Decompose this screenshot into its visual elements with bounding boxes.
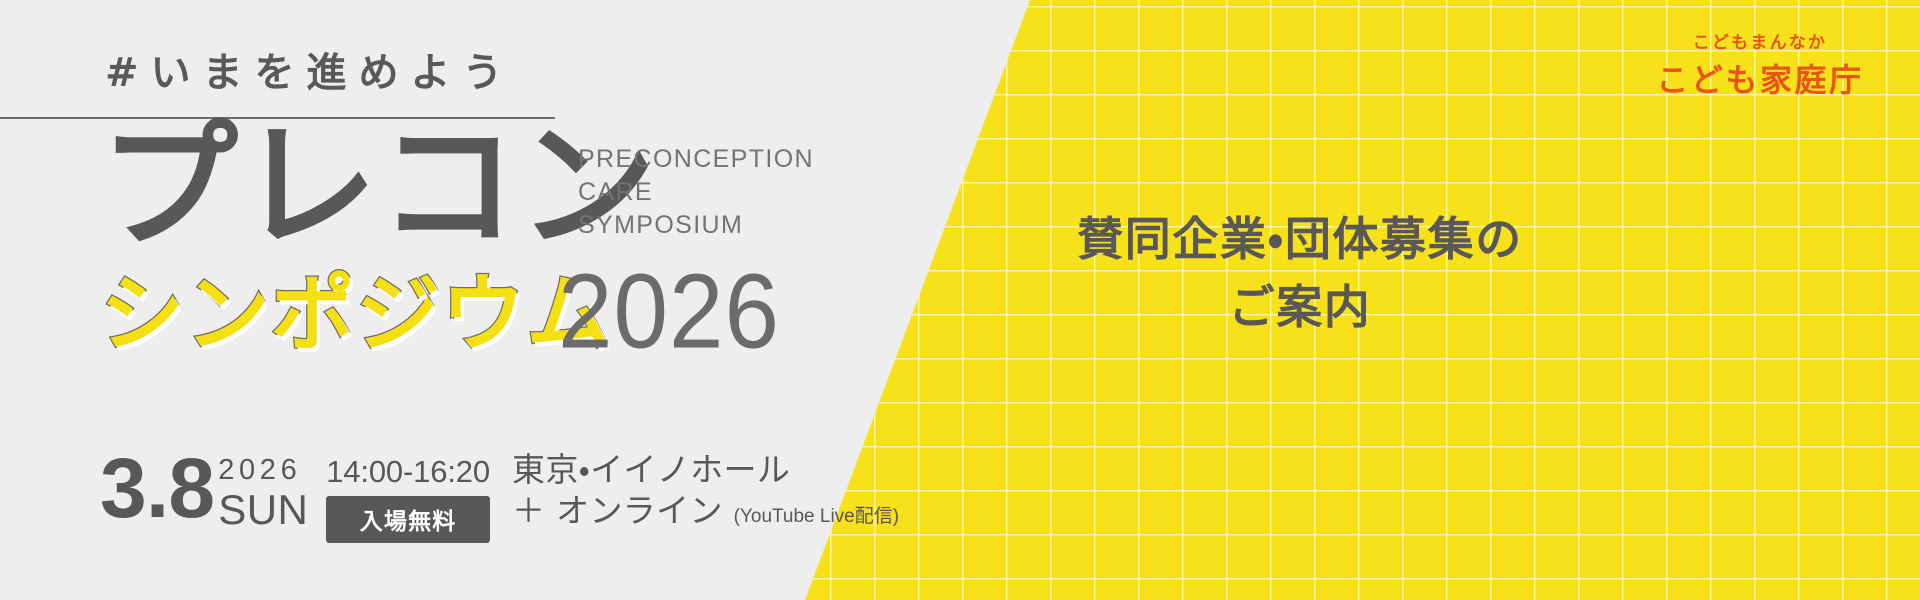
sponsor-recruitment-headline: 賛同企業・団体募集の ご案内: [1000, 205, 1600, 341]
event-title-sub: シンポジウム: [100, 272, 612, 356]
event-title-year: 2026: [558, 258, 780, 364]
title-english-line-2: CARE: [578, 176, 814, 209]
title-english-line-3: SYMPOSIUM: [578, 209, 814, 242]
left-content-column: #いまを進めよう プレコン PRECONCEPTION CARE SYMPOSI…: [0, 0, 1000, 600]
event-streaming-note: (YouTube Live配信): [734, 506, 899, 527]
free-admission-badge: 入場無料: [326, 496, 490, 543]
sponsor-headline-line-2: ご案内: [1000, 273, 1600, 341]
event-date-meta: 2026 SUN: [218, 452, 308, 531]
agency-logo: こどもまんなか こども家庭庁: [1640, 28, 1880, 101]
agency-name: こども家庭庁: [1640, 55, 1880, 101]
event-banner: #いまを進めよう プレコン PRECONCEPTION CARE SYMPOSI…: [0, 0, 1920, 600]
campaign-hashtag: #いまを進めよう: [105, 40, 515, 98]
event-info-row: 3.8 2026 SUN 14:00-16:20 入場無料 東京・イイノホール …: [100, 452, 899, 543]
sponsor-headline-line-1: 賛同企業・団体募集の: [1000, 205, 1600, 273]
event-title-main: プレコン: [100, 118, 658, 256]
event-day-of-week: SUN: [218, 489, 308, 531]
event-venue-online: ＋ オンライン (YouTube Live配信): [512, 493, 899, 530]
event-venue-online-label: ＋ オンライン: [512, 491, 723, 530]
event-title-english: PRECONCEPTION CARE SYMPOSIUM: [578, 143, 814, 242]
event-year: 2026: [218, 456, 308, 485]
event-time: 14:00-16:20: [326, 456, 490, 487]
title-english-line-1: PRECONCEPTION: [578, 143, 814, 176]
event-venue-physical: 東京・イイノホール: [512, 452, 899, 489]
event-venue-block: 東京・イイノホール ＋ オンライン (YouTube Live配信): [512, 452, 899, 530]
event-time-block: 14:00-16:20 入場無料: [326, 452, 490, 543]
event-date: 3.8: [100, 452, 214, 526]
agency-tagline: こどもまんなか: [1640, 28, 1880, 53]
